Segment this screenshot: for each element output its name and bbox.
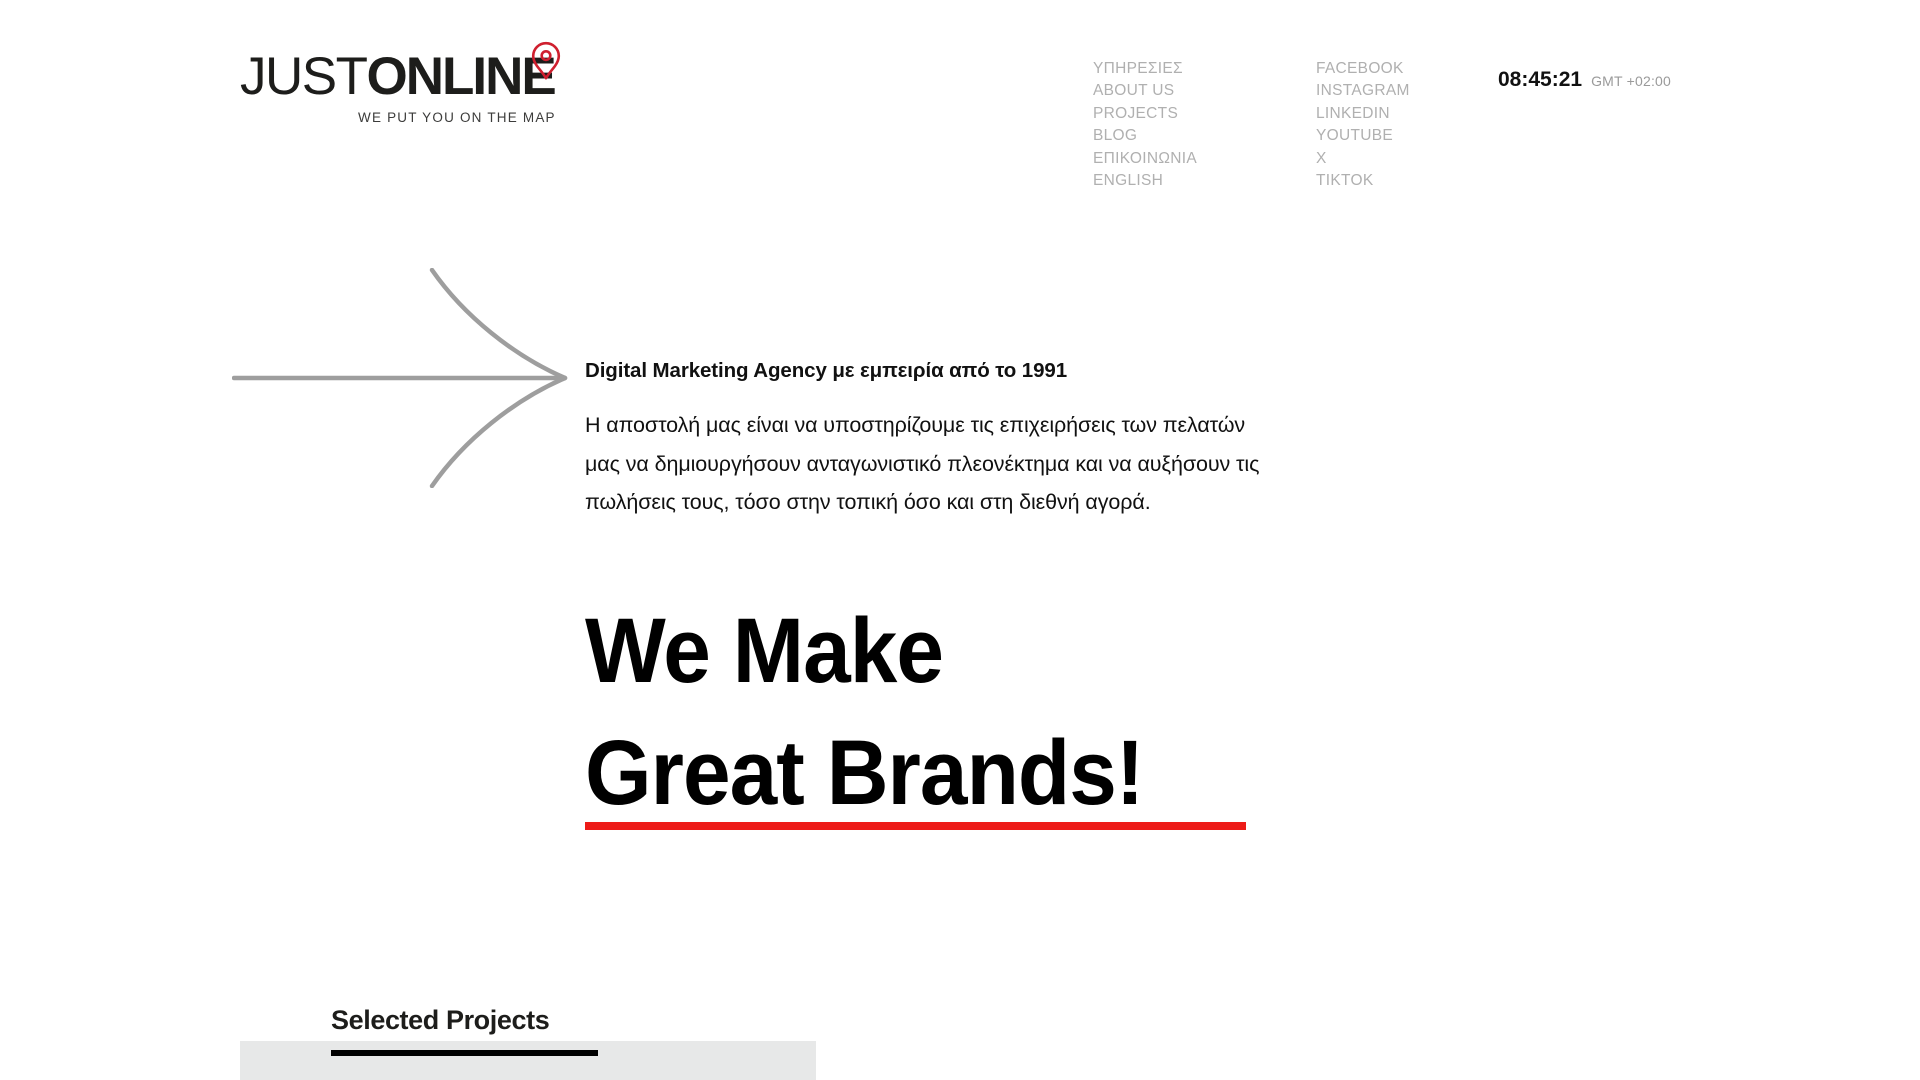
social-link-instagram[interactable]: INSTAGRAM	[1316, 80, 1410, 102]
site-header: JUSTONLINE WE PUT YOU ON THE MAP ΥΠΗΡΕΣΙ…	[0, 0, 1920, 200]
logo-tagline: WE PUT YOU ON THE MAP	[358, 110, 556, 125]
nav-item-english[interactable]: ENGLISH	[1093, 170, 1197, 192]
social-link-x[interactable]: X	[1316, 148, 1410, 170]
nav-item-about-us[interactable]: ABOUT US	[1093, 80, 1197, 102]
hero-underline-rule	[585, 822, 1246, 830]
projects-section-title: Selected Projects	[331, 1005, 549, 1036]
nav-item-projects[interactable]: PROJECTS	[1093, 103, 1197, 125]
hero-kicker: Digital Marketing Agency με εμπειρία από…	[585, 358, 1305, 384]
clock-timezone: GMT +02:00	[1591, 73, 1671, 89]
projects-background-band	[240, 1041, 816, 1080]
map-pin-icon	[529, 40, 563, 86]
nav-item-blog[interactable]: BLOG	[1093, 125, 1197, 147]
clock-time: 08:45:21	[1498, 68, 1582, 91]
projects-underline-rule	[331, 1050, 598, 1056]
logo-word-just: JUST	[240, 47, 367, 106]
nav-item-contact[interactable]: ΕΠΙΚΟΙΝΩΝΙΑ	[1093, 148, 1197, 170]
logo[interactable]: JUSTONLINE WE PUT YOU ON THE MAP	[240, 48, 580, 128]
hero-headline: We Make Great Brands!	[585, 590, 1345, 834]
hero-paragraph: Η αποστολή μας είναι να υποστηρίζουμε τι…	[585, 406, 1285, 522]
social-link-tiktok[interactable]: TIKTOK	[1316, 170, 1410, 192]
clock: 08:45:21GMT +02:00	[1498, 68, 1671, 92]
nav-item-services[interactable]: ΥΠΗΡΕΣΙΕΣ	[1093, 58, 1197, 80]
social-link-linkedin[interactable]: LINKEDIN	[1316, 103, 1410, 125]
main-navigation: ΥΠΗΡΕΣΙΕΣ ABOUT US PROJECTS BLOG ΕΠΙΚΟΙΝ…	[1093, 58, 1197, 192]
hero-text-block: Digital Marketing Agency με εμπειρία από…	[585, 358, 1305, 522]
hero-headline-line-1: We Make	[585, 590, 1292, 712]
social-navigation: FACEBOOK INSTAGRAM LINKEDIN YOUTUBE X TI…	[1316, 58, 1410, 192]
logo-word-online: ONLINE	[367, 47, 555, 106]
social-link-facebook[interactable]: FACEBOOK	[1316, 58, 1410, 80]
arrow-right-icon	[232, 268, 572, 488]
hero-headline-line-2: Great Brands!	[585, 712, 1292, 834]
logo-wordmark: JUSTONLINE	[240, 48, 555, 106]
social-link-youtube[interactable]: YOUTUBE	[1316, 125, 1410, 147]
